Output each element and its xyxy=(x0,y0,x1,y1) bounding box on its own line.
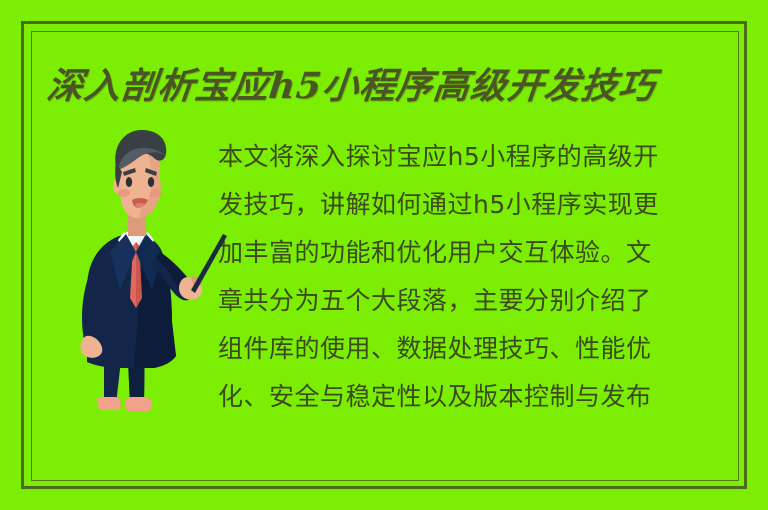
neck-shape xyxy=(128,216,146,236)
eye-right-shape xyxy=(148,177,154,187)
eye-left-shape xyxy=(126,177,132,187)
summary-line: 章共分为五个大段落，主要分别介绍了 xyxy=(218,277,718,325)
article-summary: 本文将深入探讨宝应h5小程序的高级开 发技巧，讲解如何通过h5小程序实现更 加丰… xyxy=(218,133,718,421)
businessman-with-pointer-illustration xyxy=(60,112,230,432)
shoe-right-shape xyxy=(125,397,152,411)
summary-line: 本文将深入探讨宝应h5小程序的高级开 xyxy=(218,133,718,181)
blush-left-shape xyxy=(118,189,130,197)
page-title: 深入剖析宝应h5小程序高级开发技巧 xyxy=(44,60,729,112)
summary-line: 发技巧，讲解如何通过h5小程序实现更 xyxy=(218,181,718,229)
blush-right-shape xyxy=(150,189,162,197)
summary-line: 组件库的使用、数据处理技巧、性能优 xyxy=(218,325,718,373)
poster-canvas: 深入剖析宝应h5小程序高级开发技巧 本文将深入探讨宝应h5小程序的高级开 发技巧… xyxy=(0,0,768,510)
summary-line: 化、安全与稳定性以及版本控制与发布 xyxy=(218,373,718,421)
pointer-stick-shape xyxy=(191,234,227,293)
summary-line: 加丰富的功能和优化用户交互体验。文 xyxy=(218,229,718,277)
shoe-left-shape xyxy=(98,397,121,410)
